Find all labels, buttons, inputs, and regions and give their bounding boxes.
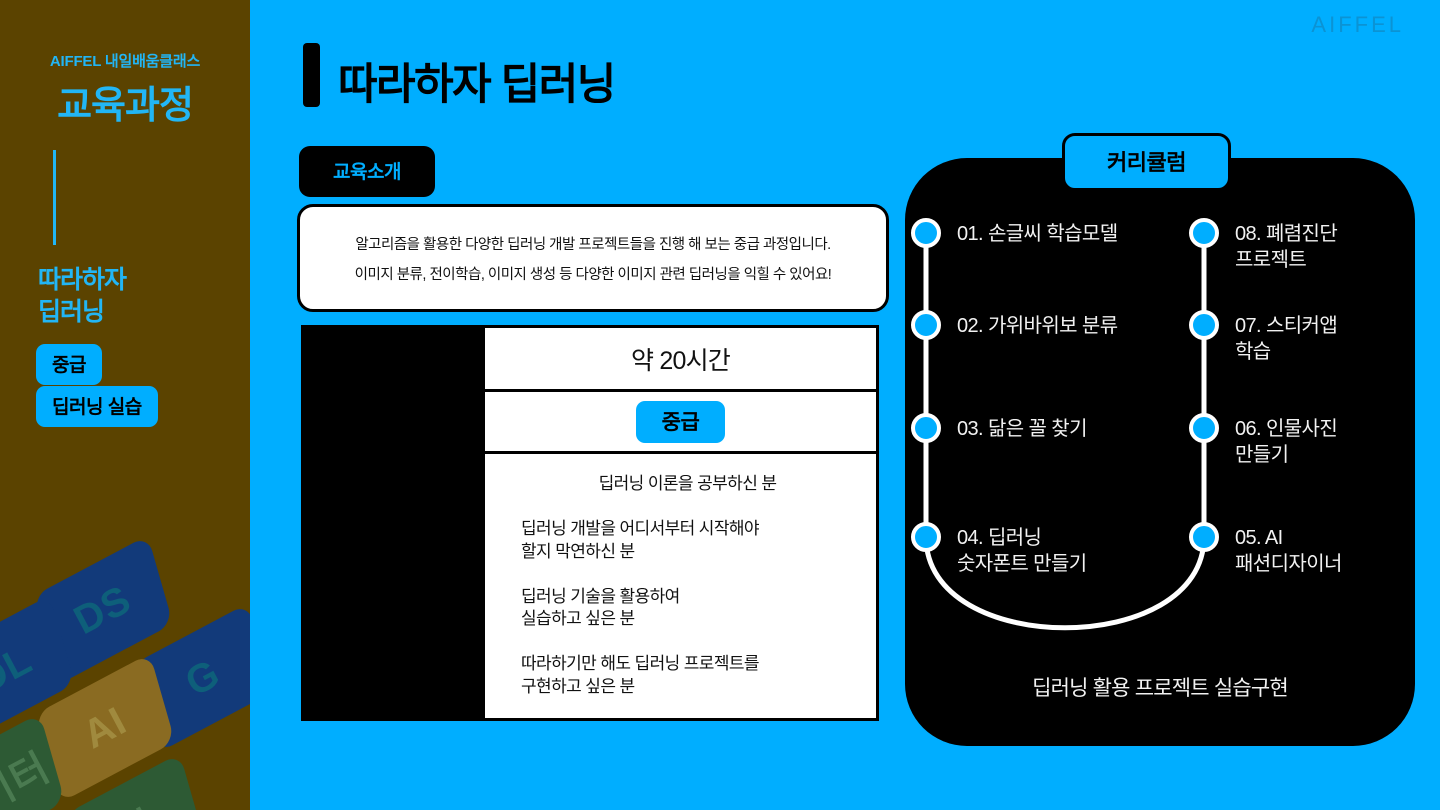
curriculum-section-tab[interactable]: 커리큘럼 [1062, 133, 1231, 191]
target-item: 딥러닝 기술을 활용하여 실습하고 싶은 분 [521, 586, 680, 632]
table-row-target-audience: 딥러닝 이론을 공부하신 분 딥러닝 개발을 어디서부터 시작해야 할지 막연하… [485, 454, 876, 718]
sidebar-eyebrow: AIFFEL 내일배움클래스 [0, 50, 250, 71]
curriculum-item-06[interactable]: 06. 인물사진 만들기 [1235, 416, 1415, 468]
target-item: 딥러닝 이론을 공부하신 분 [599, 473, 799, 496]
intro-description-box: 알고리즘을 활용한 다양한 딥러닝 개발 프로젝트들을 진행 해 보는 중급 과… [297, 204, 889, 312]
info-table-value-column: 약 20시간 중급 딥러닝 이론을 공부하신 분 딥러닝 개발을 어디서부터 시… [485, 328, 876, 718]
curriculum-item-07[interactable]: 07. 스티커앱 학습 [1235, 313, 1415, 365]
info-table-label-column [304, 328, 485, 718]
curriculum-item-02[interactable]: 02. 가위바위보 분류 [957, 313, 1172, 339]
sidebar-divider [53, 150, 56, 245]
sidebar-chip-type[interactable]: 딥러닝 실습 [36, 386, 158, 427]
decorative-isometric-cards: DSDLGAI데이터개 [0, 555, 250, 810]
title-accent-bar [303, 43, 320, 107]
course-info-table: 약 20시간 중급 딥러닝 이론을 공부하신 분 딥러닝 개발을 어디서부터 시… [301, 325, 879, 721]
level-badge: 중급 [636, 401, 726, 443]
intro-line-2: 이미지 분류, 전이학습, 이미지 생성 등 다양한 이미지 관련 딥러닝을 익… [355, 263, 832, 284]
curriculum-item-03[interactable]: 03. 닮은 꼴 찾기 [957, 416, 1172, 442]
curriculum-item-05[interactable]: 05. AI 패션디자이너 [1235, 525, 1415, 577]
slide-canvas: AIFFEL 내일배움클래스 교육과정 따라하자 딥러닝 중급 딥러닝 실습 D… [0, 0, 1440, 810]
curriculum-item-08[interactable]: 08. 폐렴진단 프로젝트 [1235, 221, 1415, 273]
sidebar-chip-level[interactable]: 중급 [36, 344, 102, 385]
curriculum-item-04[interactable]: 04. 딥러닝 숫자폰트 만들기 [957, 525, 1172, 577]
table-row-duration: 약 20시간 [485, 328, 876, 392]
sidebar-title: 교육과정 [0, 74, 250, 129]
curriculum-footer: 딥러닝 활용 프로젝트 실습구현 [905, 672, 1415, 702]
sidebar: AIFFEL 내일배움클래스 교육과정 따라하자 딥러닝 중급 딥러닝 실습 D… [0, 0, 250, 810]
curriculum-item-01[interactable]: 01. 손글씨 학습모델 [957, 221, 1172, 247]
curriculum-panel: 01. 손글씨 학습모델 02. 가위바위보 분류 03. 닮은 꼴 찾기 04… [905, 158, 1415, 746]
sidebar-course-name: 따라하자 딥러닝 [38, 264, 126, 328]
intro-line-1: 알고리즘을 활용한 다양한 딥러닝 개발 프로젝트들을 진행 해 보는 중급 과… [355, 233, 830, 254]
target-item: 딥러닝 개발을 어디서부터 시작해야 할지 막연하신 분 [521, 518, 759, 564]
page-title: 따라하자 딥러닝 [338, 50, 615, 112]
table-row-level: 중급 [485, 392, 876, 454]
intro-section-tab[interactable]: 교육소개 [299, 146, 435, 197]
duration-value: 약 20시간 [631, 341, 730, 377]
aiffel-logo: AIFFEL [1311, 12, 1404, 38]
target-item: 따라하기만 해도 딥러닝 프로젝트를 구현하고 싶은 분 [521, 653, 759, 699]
